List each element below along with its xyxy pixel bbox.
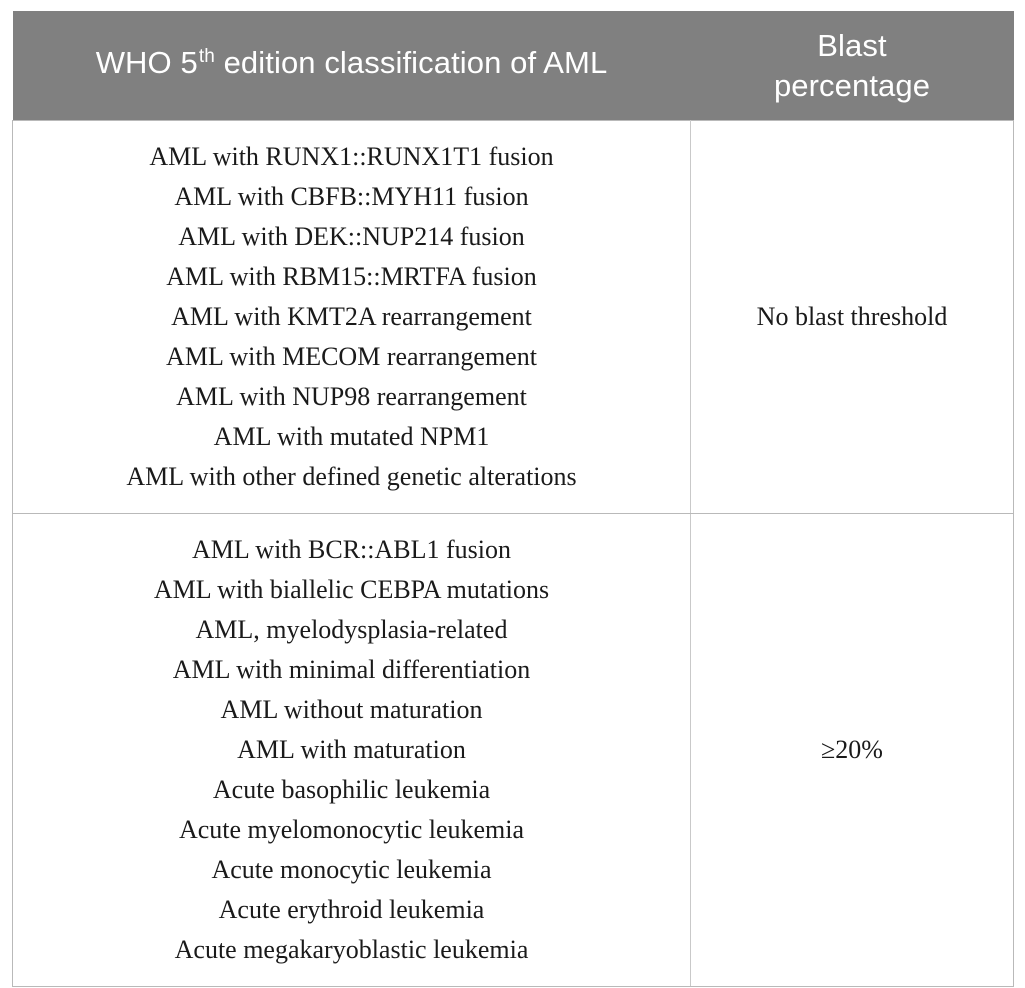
- list-item: AML with MECOM rearrangement: [23, 337, 680, 377]
- list-item: AML with maturation: [23, 730, 680, 770]
- column-header-classification: WHO 5th edition classification of AML: [13, 11, 691, 121]
- cell-classification-group-2: AML with BCR::ABL1 fusion AML with biall…: [13, 514, 691, 987]
- classification-list-group-1: AML with RUNX1::RUNX1T1 fusion AML with …: [23, 137, 680, 497]
- cell-blast-percentage-group-2: ≥20%: [691, 514, 1014, 987]
- who-classification-table-wrapper: WHO 5th edition classification of AML Bl…: [12, 11, 1013, 987]
- classification-list-group-2: AML with BCR::ABL1 fusion AML with biall…: [23, 530, 680, 970]
- table-row: AML with BCR::ABL1 fusion AML with biall…: [13, 514, 1014, 987]
- column-header-blast-line2: percentage: [774, 68, 930, 103]
- list-item: AML with KMT2A rearrangement: [23, 297, 680, 337]
- list-item: AML with mutated NPM1: [23, 417, 680, 457]
- blast-percentage-value: No blast threshold: [701, 297, 1003, 337]
- column-header-blast-percentage: Blastpercentage: [691, 11, 1014, 121]
- column-header-blast-line1: Blast: [817, 28, 886, 63]
- page-root: WHO 5th edition classification of AML Bl…: [0, 0, 1025, 988]
- list-item: Acute myelomonocytic leukemia: [23, 810, 680, 850]
- list-item: AML, myelodysplasia-related: [23, 610, 680, 650]
- list-item: AML with NUP98 rearrangement: [23, 377, 680, 417]
- list-item: AML without maturation: [23, 690, 680, 730]
- table-header: WHO 5th edition classification of AML Bl…: [13, 11, 1014, 121]
- list-item: AML with RBM15::MRTFA fusion: [23, 257, 680, 297]
- list-item: Acute erythroid leukemia: [23, 890, 680, 930]
- who-classification-table: WHO 5th edition classification of AML Bl…: [12, 11, 1014, 987]
- cell-classification-group-1: AML with RUNX1::RUNX1T1 fusion AML with …: [13, 121, 691, 514]
- list-item: AML with other defined genetic alteratio…: [23, 457, 680, 497]
- column-header-classification-suffix: edition classification of AML: [215, 45, 607, 80]
- list-item: AML with DEK::NUP214 fusion: [23, 217, 680, 257]
- column-header-classification-superscript: th: [198, 46, 215, 67]
- list-item: Acute megakaryoblastic leukemia: [23, 930, 680, 970]
- table-row: AML with RUNX1::RUNX1T1 fusion AML with …: [13, 121, 1014, 514]
- list-item: AML with BCR::ABL1 fusion: [23, 530, 680, 570]
- table-body: AML with RUNX1::RUNX1T1 fusion AML with …: [13, 121, 1014, 987]
- blast-percentage-value: ≥20%: [701, 730, 1003, 770]
- column-header-classification-prefix: WHO 5: [96, 45, 198, 80]
- list-item: Acute basophilic leukemia: [23, 770, 680, 810]
- list-item: AML with RUNX1::RUNX1T1 fusion: [23, 137, 680, 177]
- cell-blast-percentage-group-1: No blast threshold: [691, 121, 1014, 514]
- list-item: AML with CBFB::MYH11 fusion: [23, 177, 680, 217]
- list-item: AML with biallelic CEBPA mutations: [23, 570, 680, 610]
- table-header-row: WHO 5th edition classification of AML Bl…: [13, 11, 1014, 121]
- list-item: Acute monocytic leukemia: [23, 850, 680, 890]
- list-item: AML with minimal differentiation: [23, 650, 680, 690]
